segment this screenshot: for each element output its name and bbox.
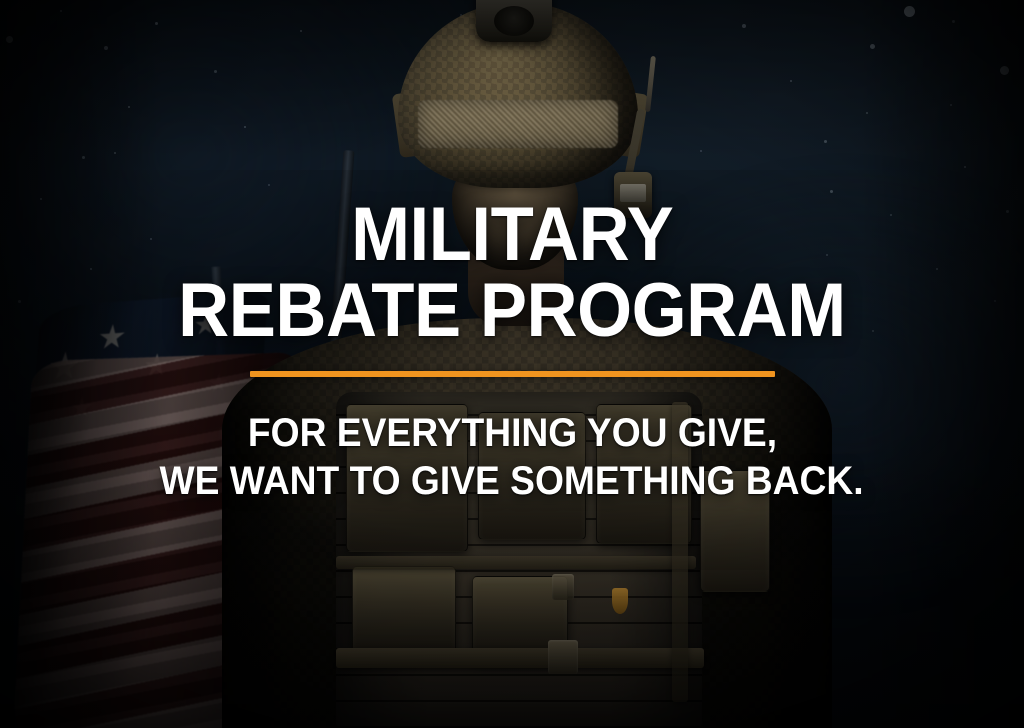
brass-clip [612, 588, 628, 614]
vest-strap-vertical [672, 402, 688, 702]
vest-buckle [548, 640, 578, 674]
flag-star [98, 323, 126, 351]
vest-strap [336, 648, 704, 668]
gear-pouch [700, 470, 770, 592]
helmet-velcro-band [418, 100, 618, 148]
ir-patch [620, 184, 646, 202]
vest-buckle [552, 574, 574, 600]
gear-pouch [478, 412, 586, 540]
flag-star [194, 313, 217, 337]
soldier-photo-illustration [0, 0, 1024, 728]
nvg-mount-icon [476, 0, 552, 42]
antenna-icon [645, 56, 656, 112]
vest-strap [336, 556, 696, 569]
gear-pouch [352, 566, 456, 658]
gear-pouch [346, 404, 468, 552]
military-rebate-banner: MILITARY REBATE PROGRAM FOR EVERYTHING Y… [0, 0, 1024, 728]
